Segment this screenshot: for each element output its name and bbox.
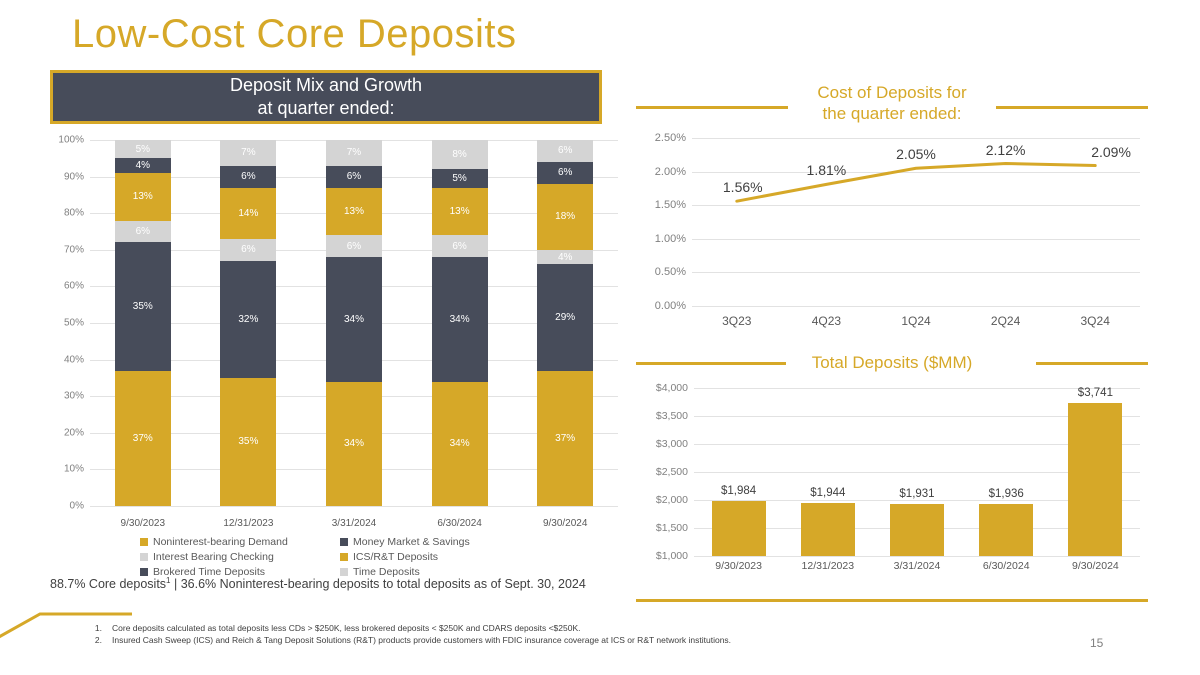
y-axis-tick-label: $1,000 <box>656 550 688 562</box>
y-axis-tick-label: $2,500 <box>656 466 688 478</box>
y-axis-tick-label: 90% <box>64 171 84 182</box>
bar-column <box>783 388 872 556</box>
y-axis-tick-label: 50% <box>64 318 84 329</box>
banner-line-1: Deposit Mix and Growth <box>230 74 422 97</box>
x-axis-tick-label: 4Q23 <box>812 314 841 328</box>
bar-column <box>1051 388 1140 556</box>
bar-segment: 37% <box>537 371 593 506</box>
x-axis-tick-label: 9/30/2024 <box>543 518 588 529</box>
data-point-label: 1.56% <box>723 179 763 195</box>
cost-accent-right <box>996 106 1148 109</box>
footnote-text: Insured Cash Sweep (ICS) and Reich & Tan… <box>112 634 731 646</box>
bar-column: 7%6%13%6%34%34% <box>301 140 407 506</box>
bar <box>979 504 1033 556</box>
bar <box>890 504 944 556</box>
stacked-bar: 6%6%18%4%29%37% <box>537 140 593 506</box>
page-title: Low-Cost Core Deposits <box>72 12 517 57</box>
bar-segment: 7% <box>326 140 382 166</box>
legend-item: Noninterest-bearing Demand <box>140 536 330 548</box>
legend-label: Money Market & Savings <box>353 536 470 548</box>
data-point-label: 2.05% <box>896 146 936 162</box>
y-axis-tick-label: 0.50% <box>655 266 686 278</box>
y-axis-tick-label: 1.50% <box>655 199 686 211</box>
banner-line-2: at quarter ended: <box>257 97 394 120</box>
footnotes: 1.Core deposits calculated as total depo… <box>90 622 731 646</box>
core-deposits-text: 88.7% Core deposits <box>50 577 166 591</box>
bar-column: 8%5%13%6%34%34% <box>407 140 513 506</box>
x-axis-tick-label: 9/30/2024 <box>1072 560 1119 572</box>
bar-segment: 37% <box>115 371 171 506</box>
y-axis-tick-label: 80% <box>64 208 84 219</box>
bar-segment: 5% <box>115 140 171 158</box>
total-accent-right <box>1036 362 1148 365</box>
bar <box>1068 403 1122 556</box>
y-axis-tick-label: 2.50% <box>655 132 686 144</box>
bar-segment: 6% <box>220 166 276 188</box>
core-deposits-rest: | 36.6% Noninterest-bearing deposits to … <box>171 577 586 591</box>
bar-segment: 6% <box>220 239 276 261</box>
bar-segment: 6% <box>432 235 488 257</box>
x-axis-tick-label: 9/30/2023 <box>121 518 166 529</box>
bar-segment: 34% <box>432 257 488 381</box>
x-axis-tick-label: 12/31/2023 <box>802 560 855 572</box>
cost-line-path <box>692 138 1140 306</box>
legend-swatch <box>340 568 348 576</box>
bar-column <box>872 388 961 556</box>
bar-segment: 6% <box>537 140 593 162</box>
footnote-text: Core deposits calculated as total deposi… <box>112 622 580 634</box>
bar-segment: 7% <box>220 140 276 166</box>
stacked-bar: 7%6%14%6%32%35% <box>220 140 276 506</box>
bar-segment: 34% <box>326 257 382 381</box>
data-point-label: 2.09% <box>1091 144 1131 160</box>
legend-swatch <box>140 568 148 576</box>
y-axis-tick-label: 40% <box>64 354 84 365</box>
footnote-number: 2. <box>90 634 102 646</box>
gridline <box>90 506 618 507</box>
y-axis-tick-label: 60% <box>64 281 84 292</box>
y-axis-tick-label: $3,000 <box>656 438 688 450</box>
cost-title-line-1: Cost of Deposits for <box>636 82 1148 103</box>
total-title-text: Total Deposits ($MM) <box>812 353 973 372</box>
deposit-mix-chart: 0%10%20%30%40%50%60%70%80%90%100%5%4%13%… <box>44 132 624 532</box>
footnote-number: 1. <box>90 622 102 634</box>
x-axis-tick-label: 3Q23 <box>722 314 751 328</box>
bar-segment: 8% <box>432 140 488 169</box>
bar-segment: 6% <box>115 221 171 243</box>
y-axis-tick-label: 10% <box>64 464 84 475</box>
bar-segment: 29% <box>537 264 593 370</box>
bar-segment: 4% <box>537 250 593 265</box>
cost-of-deposits-chart: Cost of Deposits for the quarter ended: … <box>636 82 1148 332</box>
bar-segment: 4% <box>115 158 171 173</box>
bar-segment: 14% <box>220 188 276 239</box>
bar-segment: 6% <box>326 166 382 188</box>
stacked-bar: 7%6%13%6%34%34% <box>326 140 382 506</box>
x-axis-tick-label: 3/31/2024 <box>332 518 377 529</box>
bar-value-label: $1,984 <box>721 485 756 497</box>
cost-of-deposits-plot: 0.00%0.50%1.00%1.50%2.00%2.50%1.56%1.81%… <box>692 138 1140 306</box>
legend-swatch <box>340 538 348 546</box>
deposit-mix-plot: 0%10%20%30%40%50%60%70%80%90%100%5%4%13%… <box>90 140 618 506</box>
x-axis-tick-label: 3/31/2024 <box>894 560 941 572</box>
slide-root: Low-Cost Core Deposits Deposit Mix and G… <box>0 0 1200 675</box>
legend-item: Interest Bearing Checking <box>140 551 330 563</box>
gridline <box>692 306 1140 307</box>
y-axis-tick-label: $4,000 <box>656 382 688 394</box>
data-point-label: 2.12% <box>986 142 1026 158</box>
y-axis-tick-label: 100% <box>58 135 84 146</box>
bar-column: 6%6%18%4%29%37% <box>512 140 618 506</box>
deposit-mix-banner: Deposit Mix and Growth at quarter ended: <box>50 70 602 124</box>
bar-segment: 6% <box>326 235 382 257</box>
bar-column <box>962 388 1051 556</box>
bar-value-label: $1,931 <box>899 488 934 500</box>
y-axis-tick-label: 2.00% <box>655 166 686 178</box>
gridline <box>694 556 1140 557</box>
cost-of-deposits-title: Cost of Deposits for the quarter ended: <box>636 82 1148 124</box>
bar-segment: 18% <box>537 184 593 250</box>
y-axis-tick-label: 1.00% <box>655 233 686 245</box>
legend-swatch <box>340 553 348 561</box>
footnote-item: 1.Core deposits calculated as total depo… <box>90 622 731 634</box>
footnote-item: 2.Insured Cash Sweep (ICS) and Reich & T… <box>90 634 731 646</box>
x-axis-tick-label: 1Q24 <box>901 314 930 328</box>
x-axis-tick-label: 2Q24 <box>991 314 1020 328</box>
bar-column: 5%4%13%6%35%37% <box>90 140 196 506</box>
bar-segment: 35% <box>115 242 171 370</box>
total-accent-left <box>636 362 786 365</box>
x-axis-tick-label: 12/31/2023 <box>223 518 273 529</box>
y-axis-tick-label: 30% <box>64 391 84 402</box>
total-deposits-chart: Total Deposits ($MM) $1,000$1,500$2,000$… <box>636 352 1148 610</box>
x-axis-tick-label: 3Q24 <box>1081 314 1110 328</box>
legend-swatch <box>140 553 148 561</box>
bar-segment: 13% <box>326 188 382 236</box>
bar-segment: 13% <box>432 188 488 236</box>
bar-segment: 6% <box>537 162 593 184</box>
bar-column: 7%6%14%6%32%35% <box>196 140 302 506</box>
bar-value-label: $1,944 <box>810 487 845 499</box>
bar <box>712 501 766 556</box>
y-axis-tick-label: 20% <box>64 427 84 438</box>
bar-segment: 35% <box>220 378 276 506</box>
legend-item: Money Market & Savings <box>340 536 530 548</box>
y-axis-tick-label: 0.00% <box>655 300 686 312</box>
bar-segment: 34% <box>432 382 488 506</box>
x-axis-tick-label: 6/30/2024 <box>983 560 1030 572</box>
page-number: 15 <box>1090 636 1103 650</box>
deposit-mix-legend: Noninterest-bearing DemandMoney Market &… <box>140 536 530 578</box>
y-axis-tick-label: $3,500 <box>656 410 688 422</box>
stacked-bar: 5%4%13%6%35%37% <box>115 140 171 506</box>
bar-column <box>694 388 783 556</box>
bar-segment: 34% <box>326 382 382 506</box>
y-axis-tick-label: 70% <box>64 244 84 255</box>
bar-value-label: $1,936 <box>989 488 1024 500</box>
legend-label: Interest Bearing Checking <box>153 551 274 563</box>
y-axis-tick-label: $2,000 <box>656 494 688 506</box>
bar-segment: 32% <box>220 261 276 378</box>
bar <box>801 503 855 556</box>
total-deposits-baseline-rule <box>636 599 1148 602</box>
cost-accent-left <box>636 106 788 109</box>
x-axis-tick-label: 6/30/2024 <box>437 518 482 529</box>
total-deposits-plot: $1,000$1,500$2,000$2,500$3,000$3,500$4,0… <box>694 388 1140 556</box>
stacked-bar: 8%5%13%6%34%34% <box>432 140 488 506</box>
y-axis-tick-label: 0% <box>70 501 84 512</box>
legend-item: ICS/R&T Deposits <box>340 551 530 563</box>
core-deposits-footnote: 88.7% Core deposits1 | 36.6% Noninterest… <box>50 576 586 591</box>
bar-segment: 13% <box>115 173 171 221</box>
bar-value-label: $3,741 <box>1078 387 1113 399</box>
y-axis-tick-label: $1,500 <box>656 522 688 534</box>
legend-label: ICS/R&T Deposits <box>353 551 438 563</box>
legend-label: Noninterest-bearing Demand <box>153 536 288 548</box>
data-point-label: 1.81% <box>807 162 847 178</box>
legend-swatch <box>140 538 148 546</box>
bar-segment: 5% <box>432 169 488 187</box>
x-axis-tick-label: 9/30/2023 <box>715 560 762 572</box>
